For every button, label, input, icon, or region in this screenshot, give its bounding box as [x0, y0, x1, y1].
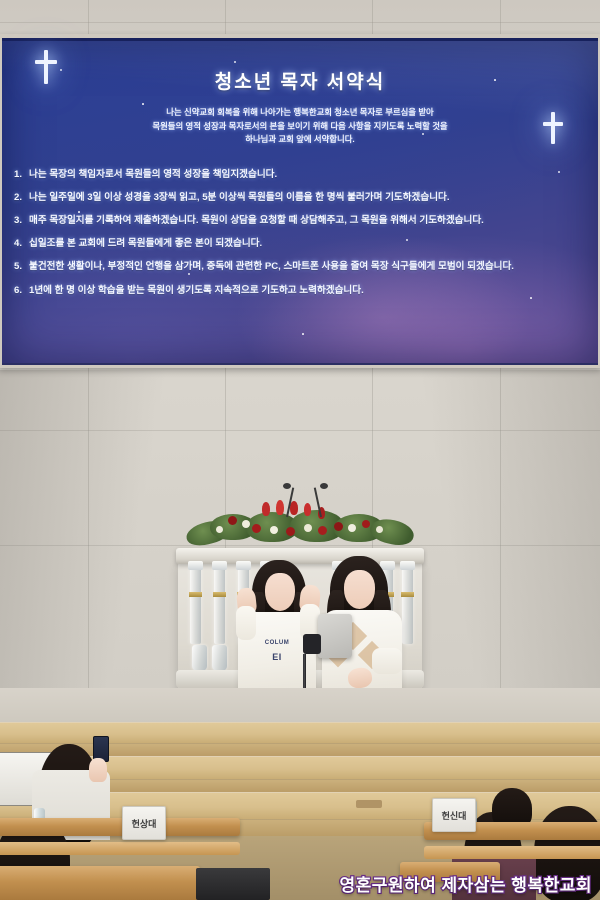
offering-sign-left: 헌상대 — [122, 806, 166, 840]
flower-arrangement — [186, 500, 414, 552]
pledge-item-text: 나는 일주일에 3일 이상 성경을 3장씩 읽고, 5분 이상씩 목원들의 이름… — [29, 191, 592, 205]
pledge-item-number: 2. — [14, 191, 29, 205]
pledge-item: 3.매주 목장일지를 기록하여 제출하겠습니다. 목원이 상담을 요청할 때 상… — [14, 214, 592, 228]
projection-screen: 청소년 목자 서약식 나는 신약교회 회복을 위해 나아가는 행복한교회 청소년… — [2, 38, 598, 365]
church-watermark: 영혼구원하여 제자삼는 행복한교회 — [339, 871, 592, 896]
slide-title: 청소년 목자 서약식 — [2, 67, 598, 94]
pew-rail — [0, 842, 240, 855]
pew-bench — [0, 818, 240, 836]
pledge-item: 6.1년에 한 명 이상 학습을 받는 목원이 생기도록 지속적으로 기도하고 … — [14, 284, 592, 298]
pledge-list: 1.나는 목장의 책임자로서 목원들의 영적 성장을 책임지겠습니다.2.나는 … — [14, 168, 592, 307]
slide-intro-paragraph: 나는 신약교회 회복을 위해 나아가는 행복한교회 청소년 목자로 부르심을 받… — [62, 106, 538, 147]
pledge-item: 4.십일조를 본 교회에 드려 목원들에게 좋은 본이 되겠습니다. — [14, 237, 592, 251]
cross-icon — [543, 112, 563, 144]
stage-step — [0, 722, 600, 744]
pledge-item-text: 십일조를 본 교회에 드려 목원들에게 좋은 본이 되겠습니다. — [29, 237, 592, 251]
pledge-item-text: 불건전한 생활이나, 부정적인 언행을 삼가며, 중독에 관련한 PC, 스마트… — [29, 260, 592, 274]
pledge-item: 2.나는 일주일에 3일 이상 성경을 3장씩 읽고, 5분 이상씩 목원들의 … — [14, 191, 592, 205]
pew-rail — [424, 846, 600, 859]
tablet-screen[interactable] — [318, 614, 352, 658]
pledge-item-text: 1년에 한 명 이상 학습을 받는 목원이 생기도록 지속적으로 기도하고 노력… — [29, 284, 592, 298]
pew-bench — [0, 866, 200, 900]
pledge-item: 1.나는 목장의 책임자로서 목원들의 영적 성장을 책임지겠습니다. — [14, 168, 592, 182]
tablet-mount — [303, 634, 321, 654]
pledge-item-text: 나는 목장의 책임자로서 목원들의 영적 성장을 책임지겠습니다. — [29, 168, 592, 182]
pledge-item: 5.불건전한 생활이나, 부정적인 언행을 삼가며, 중독에 관련한 PC, 스… — [14, 260, 592, 274]
pledge-item-number: 1. — [14, 168, 29, 182]
pledge-item-number: 4. — [14, 237, 29, 251]
floor-speaker — [196, 868, 270, 900]
stage-backdrop — [0, 688, 600, 722]
pledge-item-number: 5. — [14, 260, 29, 274]
cross-icon — [35, 50, 57, 84]
pledge-item-number: 3. — [14, 214, 29, 228]
offering-sign-right: 헌신대 — [432, 798, 476, 832]
pledge-item-number: 6. — [14, 284, 29, 298]
photo-scene: 청소년 목자 서약식 나는 신약교회 회복을 위해 나아가는 행복한교회 청소년… — [0, 0, 600, 900]
pledge-item-text: 매주 목장일지를 기록하여 제출하겠습니다. 목원이 상담을 요청할 때 상담해… — [29, 214, 592, 228]
